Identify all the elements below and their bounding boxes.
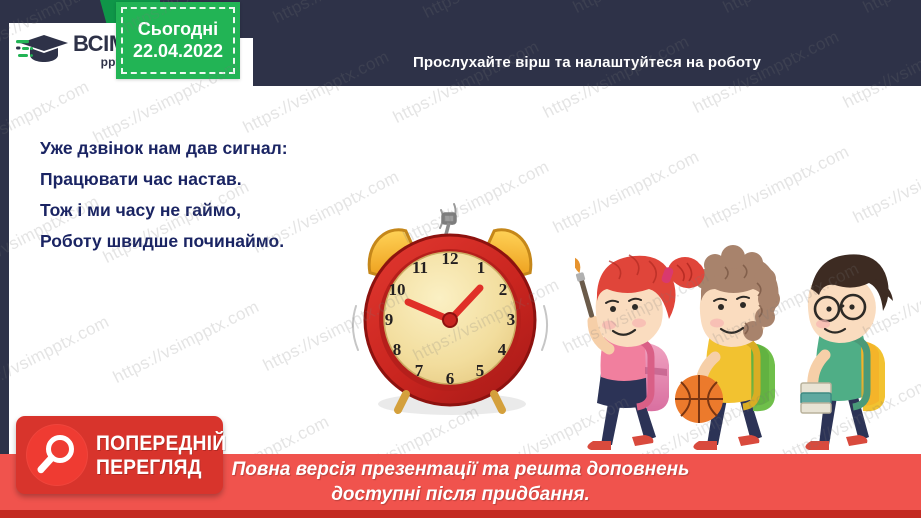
- svg-text:3: 3: [507, 310, 516, 329]
- today-date: 22.04.2022: [133, 41, 223, 63]
- bottom-dark-red-strip: [0, 510, 921, 518]
- svg-text:11: 11: [412, 258, 428, 277]
- svg-text:9: 9: [385, 310, 394, 329]
- preview-label-line1: ПОПЕРЕДНІЙ: [96, 433, 226, 454]
- svg-text:1: 1: [477, 258, 486, 277]
- poem-line: Працювати час настав.: [40, 164, 370, 195]
- header-title-bar: Прослухайте вірш та налаштуйтеся на робо…: [253, 38, 921, 86]
- svg-text:5: 5: [476, 361, 485, 380]
- banner-line-2: доступні після придбання.: [331, 482, 590, 507]
- poem-line: Роботу швидше починаймо.: [40, 226, 370, 257]
- watermark-text: https://vsimpptx.com: [550, 147, 702, 238]
- child-girl-paintbrush: [575, 255, 705, 450]
- today-label: Сьогодні: [138, 19, 218, 41]
- svg-text:8: 8: [393, 340, 402, 359]
- magnifier-icon: [26, 424, 88, 486]
- svg-text:6: 6: [446, 369, 455, 388]
- watermark-text: https://vsimpptx.com: [700, 142, 852, 233]
- banner-line-1: Повна версія презентації та решта доповн…: [232, 457, 690, 482]
- preview-badge[interactable]: ПОПЕРЕДНІЙ ПЕРЕГЛЯД: [16, 416, 223, 494]
- left-dark-strip: [0, 0, 9, 518]
- page-title: Прослухайте вірш та налаштуйтеся на робо…: [413, 54, 761, 71]
- poem-line: Уже дзвінок нам дав сигнал:: [40, 133, 370, 164]
- slide-canvas: ВСІМ pptx Сьогодні 22.04.2022 Прослухайт…: [0, 0, 921, 518]
- watermark-text: https://vsimpptx.com: [850, 137, 921, 228]
- svg-text:4: 4: [498, 340, 507, 359]
- today-date-badge: Сьогодні 22.04.2022: [116, 2, 240, 79]
- watermark-text: https://vsimpptx.com: [110, 297, 262, 388]
- svg-text:10: 10: [389, 280, 406, 299]
- svg-text:2: 2: [499, 280, 508, 299]
- alarm-clock-illustration: 12 1 2 3 4 5 6 7 8 9 10 11: [340, 198, 560, 420]
- graduation-cap-icon: [16, 31, 70, 71]
- schoolchildren-illustration: [575, 245, 921, 460]
- poem-line: Тож і ми часу не гаймо,: [40, 195, 370, 226]
- svg-text:12: 12: [442, 249, 459, 268]
- poem-block: Уже дзвінок нам дав сигнал: Працювати ча…: [40, 133, 370, 257]
- watermark-text: https://vsimpptx.com: [0, 312, 112, 403]
- preview-label-line2: ПЕРЕГЛЯД: [96, 457, 226, 478]
- child-boy-glasses: [801, 254, 893, 450]
- svg-text:7: 7: [415, 361, 424, 380]
